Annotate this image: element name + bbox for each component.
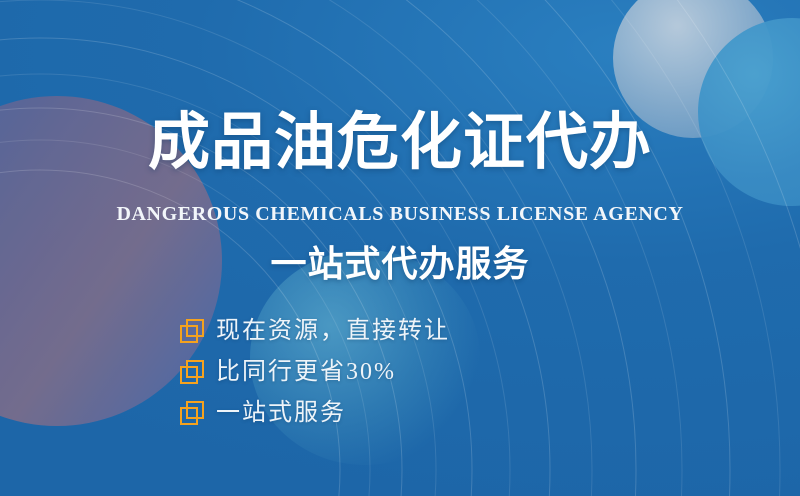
page-title: 成品油危化证代办: [0, 112, 800, 174]
list-item: 一站式服务: [180, 398, 450, 427]
double-square-icon: [180, 401, 204, 425]
service-slogan: 一站式代办服务: [0, 246, 800, 282]
feature-label: 现在资源，直接转让: [216, 319, 450, 343]
double-square-icon: [180, 319, 204, 343]
double-square-icon: [180, 360, 204, 384]
promo-banner: 成品油危化证代办 Dangerous Chemicals Business Li…: [0, 0, 800, 496]
banner-content: 成品油危化证代办 Dangerous Chemicals Business Li…: [0, 0, 800, 496]
feature-label: 一站式服务: [216, 401, 346, 425]
list-item: 比同行更省30%: [180, 357, 450, 386]
list-item: 现在资源，直接转让: [180, 316, 450, 345]
feature-list: 现在资源，直接转让 比同行更省30% 一站式服务: [180, 316, 450, 427]
feature-label: 比同行更省30%: [216, 360, 396, 384]
english-subtitle: Dangerous Chemicals Business License Age…: [0, 203, 800, 226]
